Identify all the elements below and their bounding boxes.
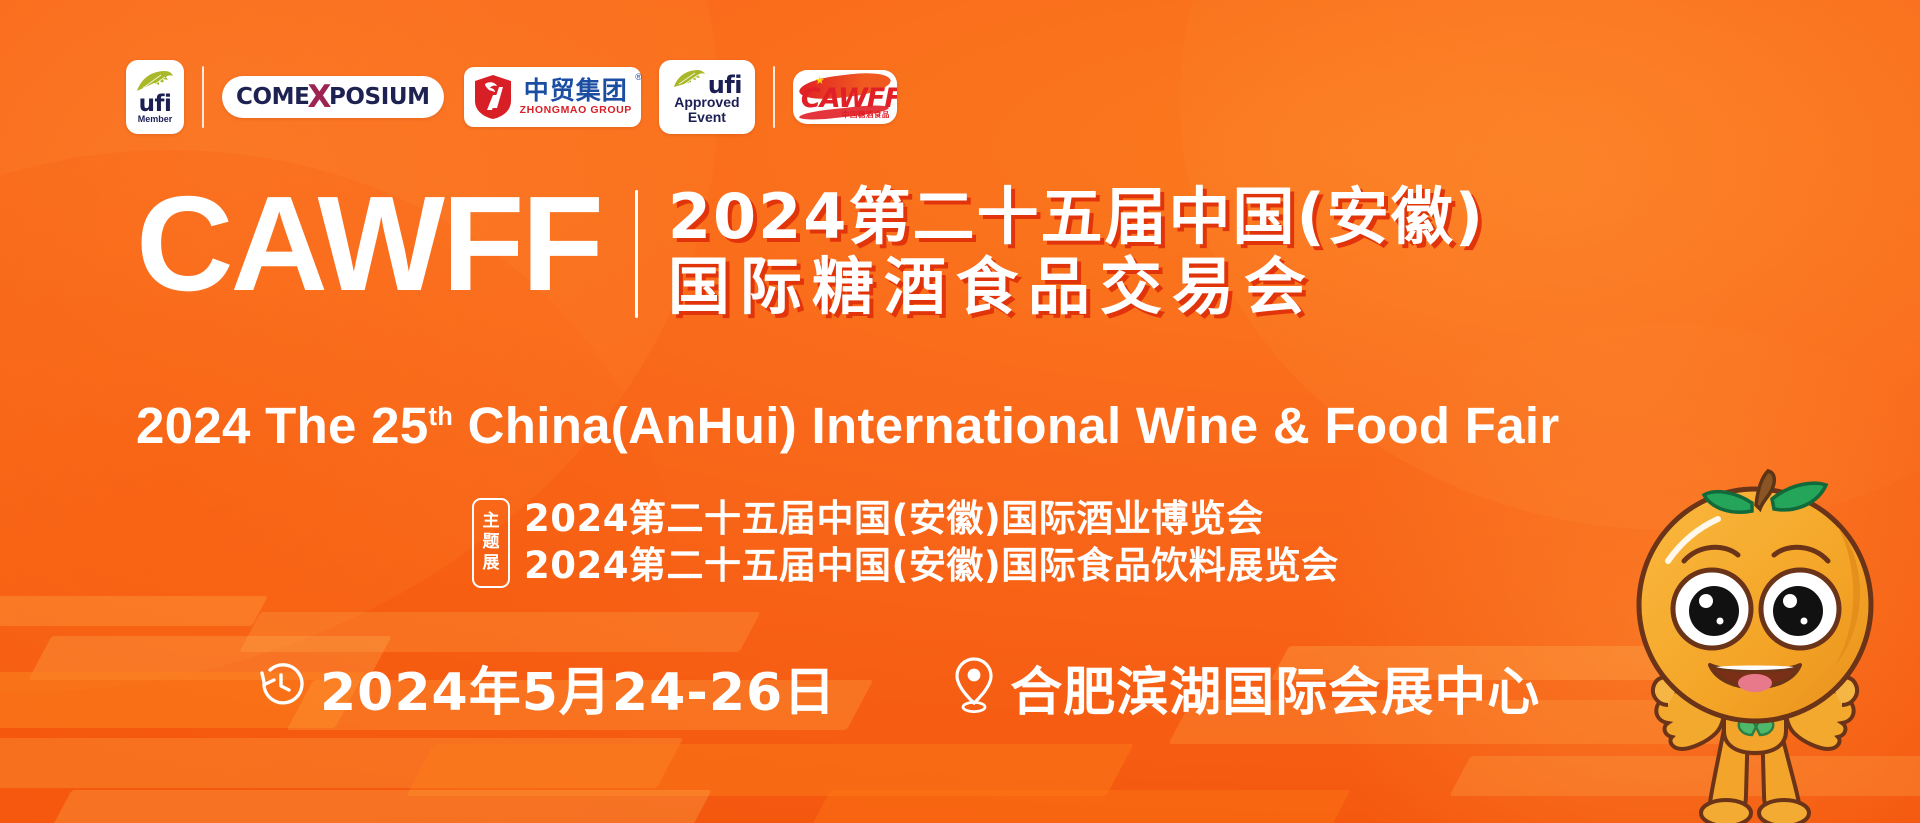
event-venue: 合肥滨湖国际会展中心 (1010, 650, 1540, 725)
zhongmao-en-name: ZHONGMAO GROUP (520, 105, 632, 116)
theme-tag-char-1: 主 (483, 512, 500, 531)
location-pin-icon (954, 657, 994, 718)
partner-logo-row: ufi Member COME X POSIUM (126, 59, 897, 135)
zhongmao-dragon-icon (473, 74, 513, 120)
zhongmao-group-logo[interactable]: 中贸集团 ZHONGMAO GROUP ® (464, 67, 641, 127)
comexposium-x-icon: X (307, 85, 331, 110)
comexposium-part1: COME (236, 84, 309, 110)
theme-line-1: 2024第二十五届中国(安徽)国际酒业博览会 (524, 498, 1339, 541)
ufi-bird-icon (672, 68, 706, 95)
event-date: 2024年5月24-26日 (320, 650, 836, 725)
event-date-item: 2024年5月24-26日 (258, 650, 836, 725)
ufi-member-logo[interactable]: ufi Member (126, 60, 184, 134)
ufi-bird-icon (135, 69, 175, 94)
hero-english-title: 2024 The 25th China(AnHui) International… (136, 396, 1560, 455)
hero-cn-line-1: 2024第二十五届中国(安徽) (668, 184, 1485, 250)
event-meta-row: 2024年5月24-26日 合肥滨湖国际会展中心 (258, 650, 1540, 725)
zhongmao-cn-name: 中贸集团 (524, 78, 628, 104)
hero-divider (635, 190, 638, 318)
clock-icon (258, 662, 304, 713)
theme-tag-char-2: 题 (483, 533, 500, 552)
ufi-wordmark: ufi (139, 94, 172, 115)
logo-divider-1 (202, 66, 204, 128)
hero-cn-line-2: 国际糖酒食品交易会 (668, 254, 1485, 320)
cawff-cn-label: 中国糖酒食品 (842, 109, 890, 120)
comexposium-part2: POSIUM (329, 84, 430, 110)
ufi-approved-event-logo[interactable]: ufi Approved Event (659, 60, 755, 134)
comexposium-logo[interactable]: COME X POSIUM (222, 76, 444, 118)
logo-divider-2 (773, 66, 775, 128)
theme-tag-badge: 主 题 展 (472, 498, 510, 588)
hero-en-post: China(AnHui) International Wine & Food F… (453, 397, 1559, 454)
ufi-member-label: Member (138, 115, 173, 124)
theme-exhibitions-block: 主 题 展 2024第二十五届中国(安徽)国际酒业博览会 2024第二十五届中国… (472, 498, 1339, 588)
hero-en-pre: 2024 The 25 (136, 397, 429, 454)
ufi-approved-label: Approved (674, 95, 739, 110)
theme-line-2: 2024第二十五届中国(安徽)国际食品饮料展览会 (524, 545, 1339, 588)
ufi-event-label: Event (688, 110, 726, 125)
ufi-wordmark: ufi (708, 75, 742, 95)
cawff-brand-logo[interactable]: ★ CAWFF 中国糖酒食品 (793, 70, 897, 124)
theme-tag-char-3: 展 (483, 554, 500, 573)
event-acronym: CAWFF (136, 178, 601, 310)
hero-en-ordinal: th (429, 403, 454, 431)
registered-mark: ® (635, 72, 642, 82)
event-banner: ufi Member COME X POSIUM (0, 0, 1920, 823)
orange-fruit-mascot (1606, 469, 1906, 823)
event-venue-item: 合肥滨湖国际会展中心 (954, 650, 1540, 725)
hero-title-block: CAWFF 2024第二十五届中国(安徽) 国际糖酒食品交易会 (136, 178, 1485, 319)
